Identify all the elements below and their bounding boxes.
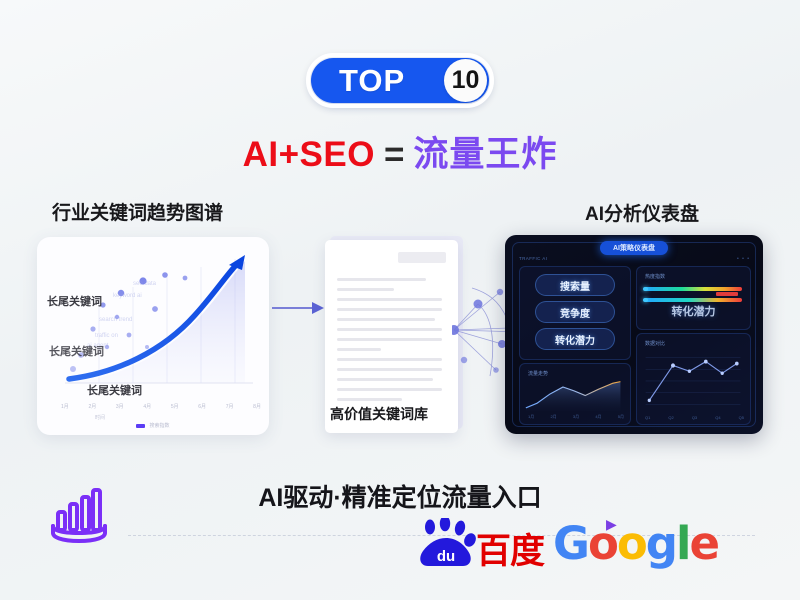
baidu-paw-icon: du xyxy=(418,518,476,568)
analytics-bar-icon xyxy=(48,484,110,546)
dashboard-line-chart xyxy=(642,348,745,412)
dashboard-area-chart xyxy=(524,377,626,411)
baidu-text: 百度 xyxy=(476,536,544,568)
metrics-panel: 搜索量 竞争度 转化潜力 xyxy=(519,266,631,360)
gauge-overlay-label: 转化潜力 xyxy=(637,303,750,319)
x-tick: 3月 xyxy=(116,403,124,413)
google-letter-g1: G xyxy=(553,517,588,570)
headline-equals: = xyxy=(384,135,404,174)
traffic-trend-title: 流量走势 xyxy=(528,370,548,377)
badge-number: 10 xyxy=(444,59,487,102)
svg-text:search trend: search trend xyxy=(99,317,132,323)
play-cursor-icon: ▶ xyxy=(606,518,615,532)
x-tick: 6月 xyxy=(198,403,206,413)
metric-pill-competition[interactable]: 竞争度 xyxy=(535,301,615,323)
bottom-tagline: AI驱动·精准定位流量入口 xyxy=(0,478,800,514)
x-tick: 2月 xyxy=(550,414,556,420)
x-tick: 8月 xyxy=(253,403,261,413)
x-tick: Q5 xyxy=(739,415,744,420)
svg-text:keyword ai: keyword ai xyxy=(113,293,142,299)
gauge-marker-primary xyxy=(643,287,648,292)
svg-text:seo data: seo data xyxy=(133,281,157,287)
x-tick: Q4 xyxy=(715,415,720,420)
trend-chart-svg: keyword ai seo data search trend traffic… xyxy=(59,251,259,397)
search-engine-logos: du 百度 Google ▶ xyxy=(418,518,718,568)
keyword-label-1: 长尾关键词 xyxy=(47,293,102,309)
dashboard-title-pill: AI策略仪表盘 xyxy=(600,241,668,255)
traffic-trend-panel: 流量走势 1月 2月 xyxy=(519,363,631,425)
google-letter-l: l xyxy=(676,517,689,570)
svg-text:traffic on: traffic on xyxy=(95,333,118,339)
gauge-bar-secondary xyxy=(645,298,742,302)
slide-canvas: TOP 10 AI+SEO=流量王炸 行业关键词趋势图谱 AI分析仪表盘 xyxy=(0,0,800,600)
x-tick: Q2 xyxy=(668,415,673,420)
baidu-logo: du 百度 xyxy=(418,518,544,568)
x-tick: 5月 xyxy=(171,403,179,413)
google-letter-g2: g xyxy=(646,517,676,570)
gauge-marker-secondary xyxy=(643,298,648,303)
headline-traffic: 流量王炸 xyxy=(413,135,557,174)
heat-index-title: 热度指数 xyxy=(645,273,665,280)
keyword-trend-card: keyword ai seo data search trend traffic… xyxy=(37,237,269,435)
document-header-block xyxy=(398,252,446,263)
legend-label: 搜索指数 xyxy=(149,422,169,429)
x-tick: 2月 xyxy=(88,403,96,413)
document-text-lines xyxy=(337,278,446,408)
left-section-caption: 行业关键词趋势图谱 xyxy=(52,198,223,225)
document-caption: 高价值关键词库 xyxy=(330,404,428,424)
metric-pill-search-volume[interactable]: 搜索量 xyxy=(535,274,615,296)
x-tick: 7月 xyxy=(226,403,234,413)
x-tick: 1月 xyxy=(528,414,534,420)
google-letter-e: e xyxy=(689,517,718,570)
heat-index-panel: 热度指数 转化潜力 xyxy=(636,266,751,330)
x-tick: 4月 xyxy=(595,414,601,420)
baidu-du-text: du xyxy=(437,548,455,565)
ai-dashboard-panel: AI策略仪表盘 TRAFFIC AI • • • 搜索量 竞争度 转化潜力 热度… xyxy=(505,235,763,434)
gauge-alert-tag xyxy=(716,292,738,296)
x-tick: Q1 xyxy=(645,415,650,420)
x-tick: 1月 xyxy=(61,403,69,413)
line-x-axis: Q1 Q2 Q3 Q4 Q5 xyxy=(645,415,744,420)
trend-legend: 搜索指数 xyxy=(37,422,269,429)
headline-ai-seo: AI+SEO xyxy=(243,135,375,174)
trend-x-axis: 1月 2月 3月 4月 5月 6月 7月 8月 xyxy=(61,403,261,413)
trend-x-axis-label: 时间 xyxy=(95,414,105,421)
google-letter-o2: o xyxy=(617,517,646,570)
keyword-label-2: 长尾关键词 xyxy=(49,343,104,359)
metric-pill-conversion-potential[interactable]: 转化潜力 xyxy=(535,328,615,350)
x-tick: 3月 xyxy=(573,414,579,420)
x-tick: 4月 xyxy=(143,403,151,413)
data-comparison-title: 数据对比 xyxy=(645,340,665,347)
data-comparison-panel: 数据对比 xyxy=(636,333,751,425)
keyword-label-3: 长尾关键词 xyxy=(87,382,142,398)
badge-label: TOP xyxy=(339,65,405,96)
dashboard-brand: TRAFFIC AI xyxy=(519,256,547,261)
x-tick: Q3 xyxy=(692,415,697,420)
gauge-bar-primary xyxy=(645,287,742,291)
google-logo: Google ▶ xyxy=(553,521,718,566)
right-section-caption: AI分析仪表盘 xyxy=(585,199,699,226)
dashboard-menu-icon[interactable]: • • • xyxy=(737,256,750,262)
x-tick: 5月 xyxy=(618,414,624,420)
area-x-axis: 1月 2月 3月 4月 5月 xyxy=(528,414,624,420)
page-title: AI+SEO=流量王炸 xyxy=(0,126,800,177)
flow-arrow-icon xyxy=(272,300,324,316)
legend-swatch xyxy=(136,424,145,428)
top-10-badge: TOP 10 xyxy=(311,58,489,103)
